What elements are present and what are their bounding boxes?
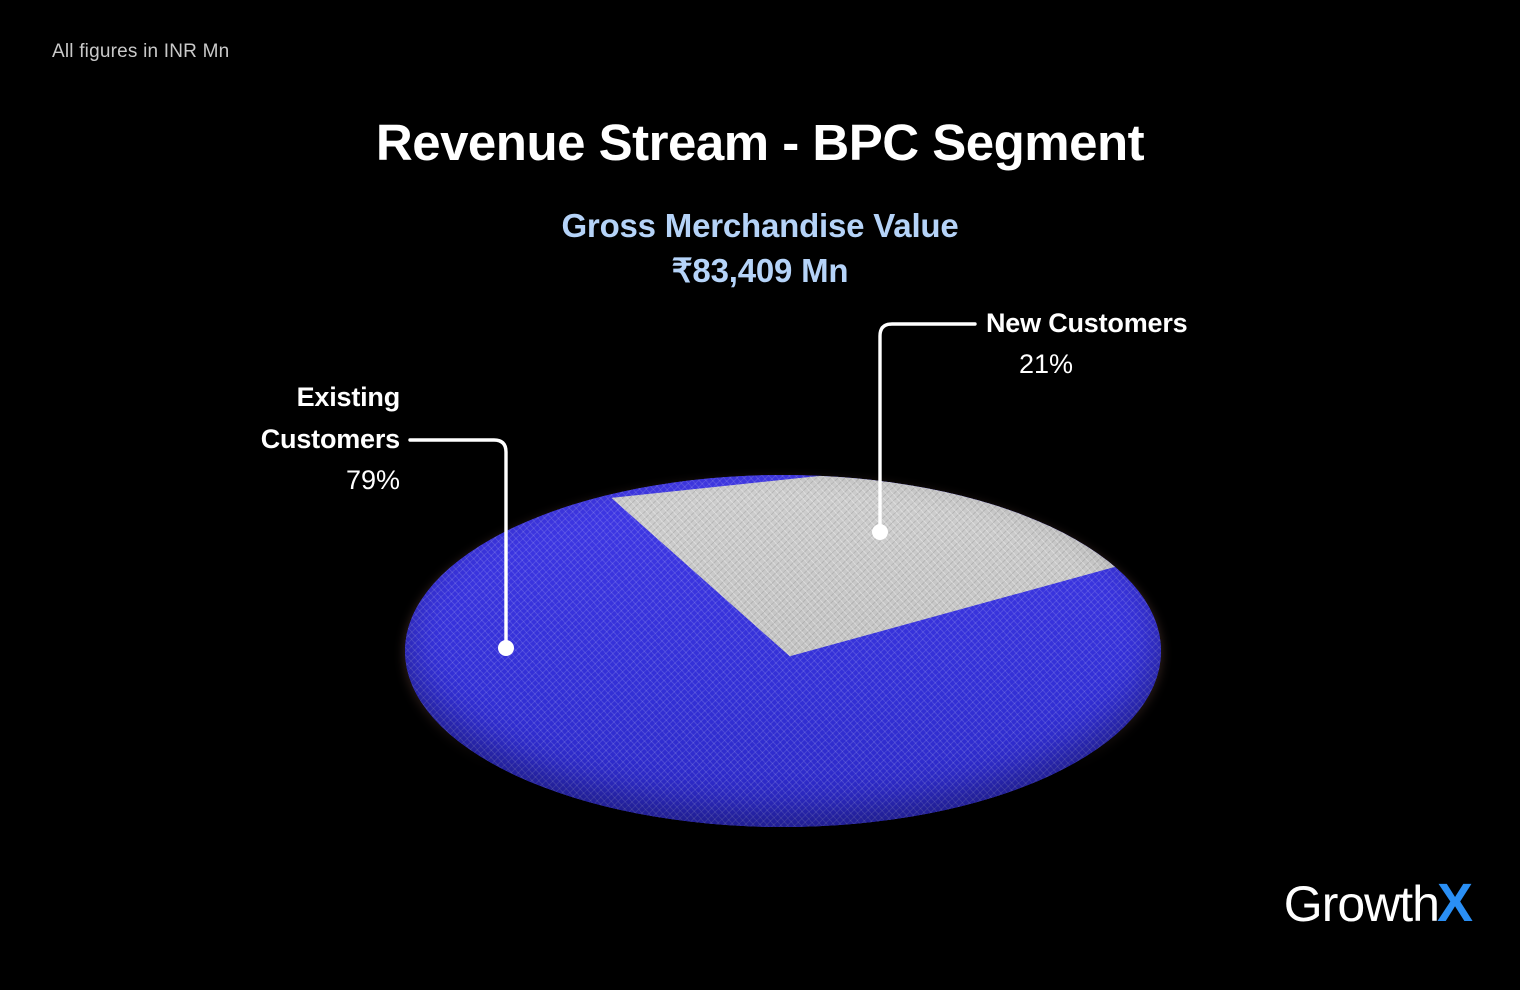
growthx-logo: Growth X (1284, 875, 1472, 932)
page-title: Revenue Stream - BPC Segment (0, 113, 1520, 173)
callout-percent-new-customers: 21% (986, 344, 1106, 384)
logo-x-mark: X (1437, 875, 1472, 931)
subtitle-metric-label: Gross Merchandise Value (561, 207, 958, 244)
chart-subtitle: Gross Merchandise Value ₹83,409 Mn (0, 203, 1520, 293)
slide-canvas: All figures in INR Mn Revenue Stream - B… (0, 0, 1520, 990)
callout-existing-customers: Existing Customers 79% (180, 376, 400, 500)
figures-unit-note: All figures in INR Mn (52, 41, 229, 63)
callout-label-new-customers: New Customers (986, 302, 1286, 344)
subtitle-metric-value: ₹83,409 Mn (0, 248, 1520, 293)
pie-body (405, 475, 1161, 827)
callout-new-customers: New Customers 21% (986, 302, 1286, 384)
callout-label-existing-customers: Existing Customers (180, 376, 400, 460)
pie-chart (398, 468, 1168, 834)
callout-percent-existing-customers: 79% (180, 460, 400, 500)
logo-wordmark: Growth (1284, 876, 1439, 932)
